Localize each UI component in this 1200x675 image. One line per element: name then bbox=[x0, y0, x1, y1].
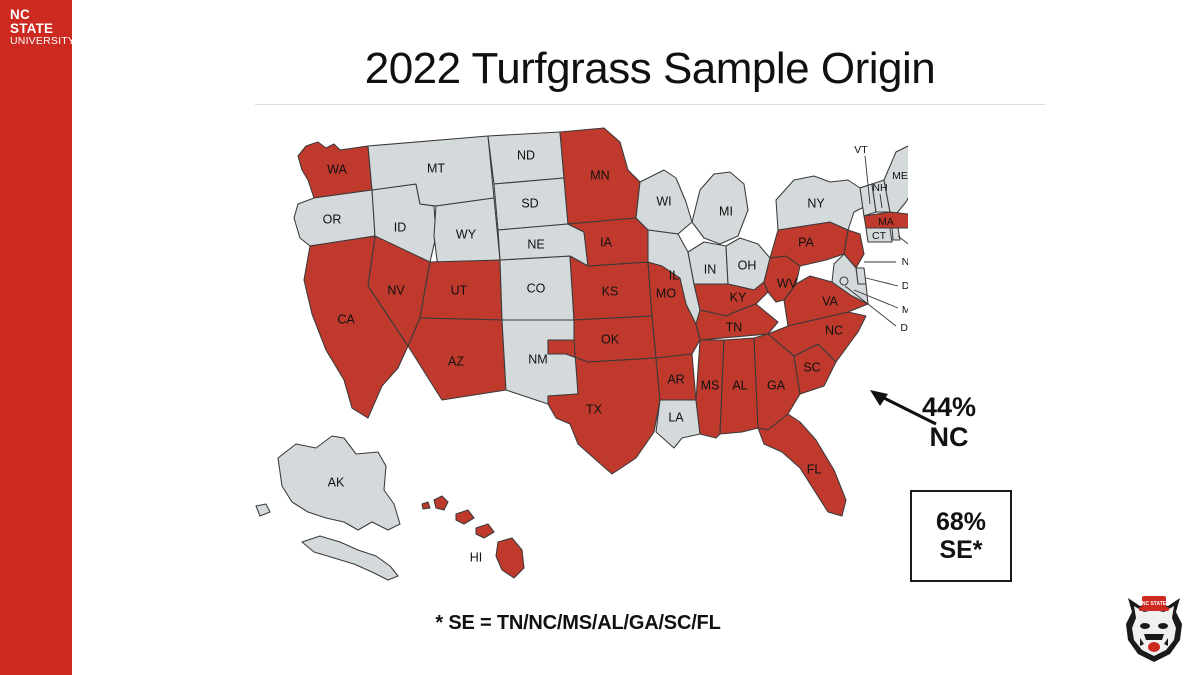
state-label-ID: ID bbox=[394, 220, 407, 234]
state-label-ND: ND bbox=[517, 148, 535, 162]
state-AK bbox=[256, 436, 400, 580]
state-label-KY: KY bbox=[730, 290, 747, 304]
state-label-SC: SC bbox=[803, 360, 820, 374]
state-label-MT: MT bbox=[427, 161, 445, 175]
wolfpack-wolf-head-icon: NC STATE bbox=[1118, 592, 1190, 666]
leader-line-DE bbox=[866, 278, 898, 286]
page-title: 2022 Turfgrass Sample Origin bbox=[255, 44, 1045, 94]
se-percentage-value: 68% bbox=[936, 508, 986, 537]
state-label-OR: OR bbox=[323, 212, 342, 226]
state-label-GA: GA bbox=[767, 378, 786, 392]
state-label-NE: NE bbox=[527, 237, 544, 251]
state-label-MO: MO bbox=[656, 286, 676, 300]
state-label-CO: CO bbox=[527, 281, 546, 295]
state-label-PA: PA bbox=[798, 235, 814, 249]
state-label-MI: MI bbox=[719, 204, 733, 218]
state-label-AK: AK bbox=[328, 475, 345, 489]
state-FL bbox=[758, 414, 846, 516]
state-label-CT: CT bbox=[872, 230, 887, 242]
state-label-AR: AR bbox=[667, 372, 684, 386]
brand-line-2: UNIVERSITY bbox=[10, 36, 75, 47]
state-label-WA: WA bbox=[327, 162, 347, 176]
nc-state-wordmark-logo: NC STATE UNIVERSITY bbox=[10, 8, 75, 46]
state-label-WI: WI bbox=[656, 194, 671, 208]
state-label-AZ: AZ bbox=[448, 354, 464, 368]
state-label-NM: NM bbox=[528, 352, 547, 366]
se-footnote: * SE = TN/NC/MS/AL/GA/SC/FL bbox=[248, 612, 908, 635]
state-label-OK: OK bbox=[601, 332, 620, 346]
state-label-ME: ME bbox=[892, 170, 908, 182]
brand-line-1: NC STATE bbox=[10, 8, 75, 36]
state-label-AL: AL bbox=[732, 378, 747, 392]
state-label-FL: FL bbox=[807, 462, 822, 476]
state-RI bbox=[892, 228, 900, 240]
state-label-NV: NV bbox=[387, 283, 405, 297]
state-label-UT: UT bbox=[451, 283, 468, 297]
state-label-NH: NH bbox=[872, 182, 887, 194]
nc-percentage-label: NC bbox=[922, 422, 976, 452]
state-label-NC: NC bbox=[825, 323, 843, 337]
state-label-NJ: NJ bbox=[902, 256, 908, 268]
state-label-IA: IA bbox=[600, 235, 612, 249]
state-label-MD: MD bbox=[902, 304, 908, 316]
state-label-MS: MS bbox=[701, 378, 720, 392]
nc-percentage-value: 44% bbox=[922, 392, 976, 422]
state-DC bbox=[840, 277, 848, 285]
se-percentage-label: SE* bbox=[939, 536, 982, 565]
state-label-IN: IN bbox=[704, 262, 717, 276]
state-label-DC: DC bbox=[900, 322, 908, 334]
state-label-WV: WV bbox=[777, 276, 798, 290]
state-label-DE: DE bbox=[902, 280, 908, 292]
state-label-SD: SD bbox=[521, 196, 538, 210]
se-percentage-box: 68% SE* bbox=[910, 490, 1012, 582]
brand-sidebar: NC STATE UNIVERSITY bbox=[0, 0, 72, 675]
state-label-IL: IL bbox=[669, 268, 679, 282]
nc-percentage-callout: 44% NC bbox=[922, 392, 976, 452]
state-label-LA: LA bbox=[668, 410, 684, 424]
state-label-TX: TX bbox=[586, 402, 603, 416]
state-label-MN: MN bbox=[590, 168, 609, 182]
us-choropleth-map: WA OR ID MT WY NV CA UT AZ CO NM ND SD N… bbox=[248, 118, 908, 588]
state-label-VT: VT bbox=[854, 144, 868, 156]
state-label-TN: TN bbox=[726, 320, 743, 334]
state-label-NY: NY bbox=[807, 196, 825, 210]
state-label-WY: WY bbox=[456, 227, 477, 241]
state-label-MA: MA bbox=[878, 216, 894, 228]
state-label-OH: OH bbox=[738, 258, 757, 272]
svg-text:NC STATE: NC STATE bbox=[1142, 601, 1167, 607]
state-label-HI: HI bbox=[470, 550, 483, 564]
state-label-KS: KS bbox=[602, 284, 619, 298]
state-HI bbox=[422, 496, 524, 578]
state-label-VA: VA bbox=[822, 294, 838, 308]
state-label-CA: CA bbox=[337, 312, 355, 326]
title-divider bbox=[255, 104, 1045, 105]
